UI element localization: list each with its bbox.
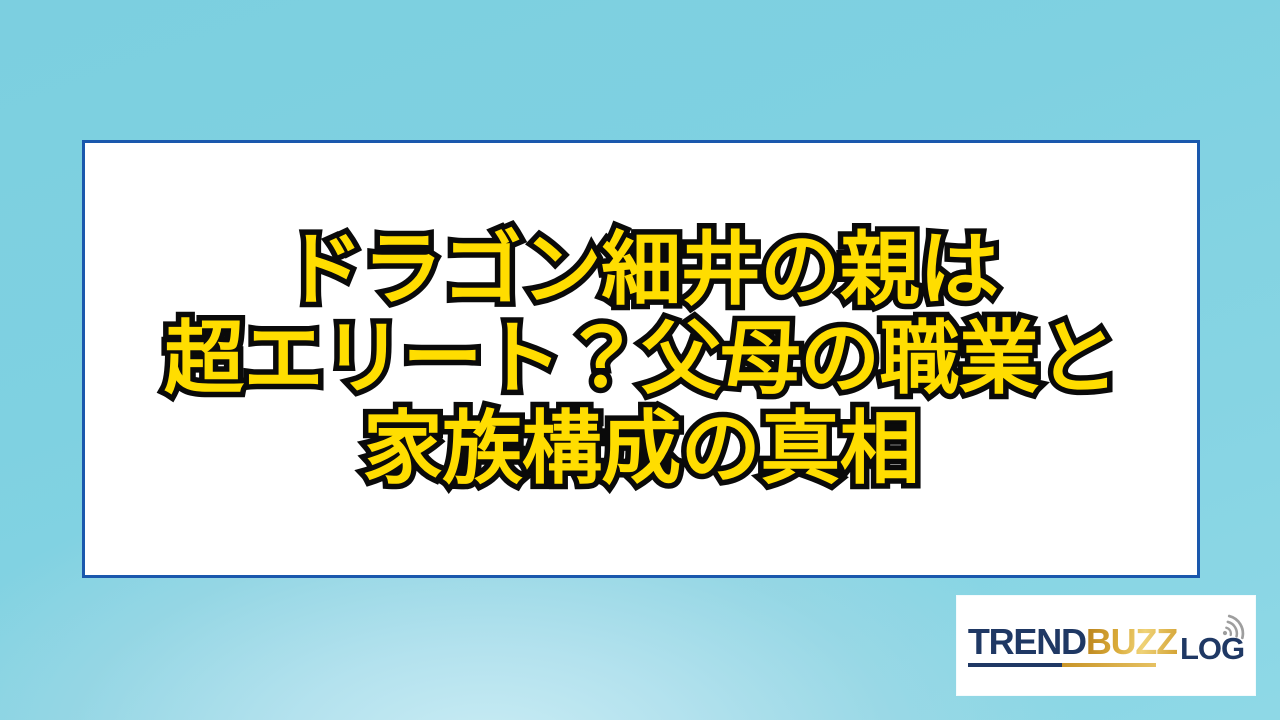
title-card: ドラゴン細井の親は 超エリート？父母の職業と 家族構成の真相 bbox=[82, 140, 1200, 578]
title-line-3: 家族構成の真相 bbox=[85, 404, 1197, 494]
brand-underline-rule bbox=[968, 663, 1156, 667]
brand-wordmark-stack: TRENDBUZZ bbox=[968, 624, 1177, 667]
brand-logo: TRENDBUZZ LOG bbox=[957, 596, 1255, 695]
thumbnail-canvas: ドラゴン細井の親は 超エリート？父母の職業と 家族構成の真相 TRENDBUZZ… bbox=[0, 0, 1280, 720]
brand-underline-gold bbox=[1062, 663, 1156, 667]
title-line-2: 超エリート？父母の職業と bbox=[85, 314, 1197, 404]
brand-text-trend: TREND bbox=[968, 621, 1086, 662]
brand-wordmark: TRENDBUZZ bbox=[968, 624, 1177, 660]
brand-text-buzz: BUZZ bbox=[1086, 621, 1177, 662]
title-line-1: ドラゴン細井の親は bbox=[85, 225, 1197, 315]
signal-waves-icon bbox=[1216, 608, 1250, 640]
brand-underline-navy bbox=[968, 663, 1062, 667]
page-title: ドラゴン細井の親は 超エリート？父母の職業と 家族構成の真相 bbox=[85, 225, 1197, 494]
brand-logo-inner: TRENDBUZZ LOG bbox=[964, 624, 1248, 667]
